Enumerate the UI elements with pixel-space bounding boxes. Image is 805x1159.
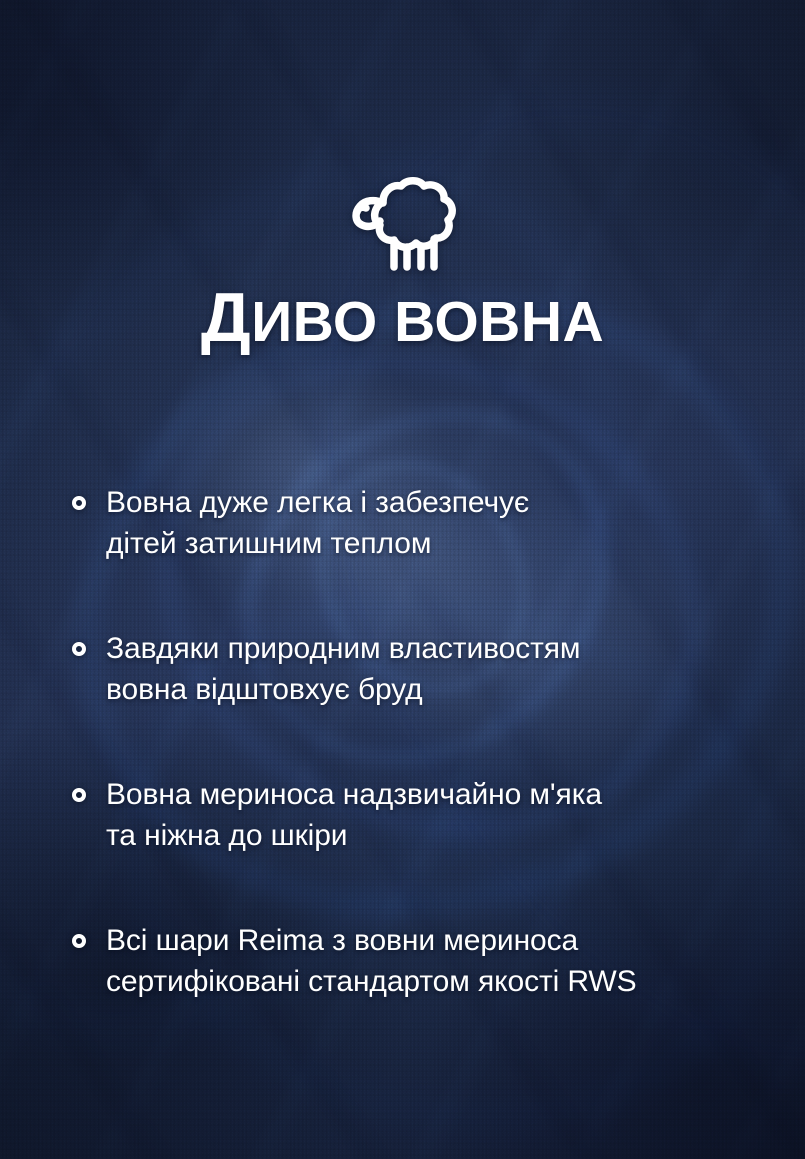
ring-bullet-icon xyxy=(72,496,86,510)
ring-bullet-icon xyxy=(72,642,86,656)
list-item-line: Завдяки природним властивостям xyxy=(106,628,580,669)
ring-bullet-icon xyxy=(72,788,86,802)
list-item-text: Вовна мериноса надзвичайно м'яка та ніжн… xyxy=(106,774,602,856)
sheep-icon xyxy=(0,172,805,276)
list-item-text: Завдяки природним властивостям вовна від… xyxy=(106,628,580,710)
list-item-line: сертифіковані стандартом якості RWS xyxy=(106,961,637,1002)
list-item-text: Всі шари Reima з вовни мериноса сертифік… xyxy=(106,920,637,1002)
wool-info-poster: Диво вовна Вовна дуже легка і забезпечує… xyxy=(0,0,805,1159)
list-item-line: Вовна дуже легка і забезпечує xyxy=(106,482,529,523)
list-item: Вовна мериноса надзвичайно м'яка та ніжн… xyxy=(72,774,772,856)
poster-content: Диво вовна Вовна дуже легка і забезпечує… xyxy=(0,0,805,1159)
list-item: Вовна дуже легка і забезпечує дітей зати… xyxy=(72,482,772,564)
list-item-line: Всі шари Reima з вовни мериноса xyxy=(106,920,637,961)
list-item-line: та ніжна до шкіри xyxy=(106,815,602,856)
list-item: Завдяки природним властивостям вовна від… xyxy=(72,628,772,710)
page-title: Диво вовна xyxy=(0,286,805,353)
list-item-line: Вовна мериноса надзвичайно м'яка xyxy=(106,774,602,815)
list-item-text: Вовна дуже легка і забезпечує дітей зати… xyxy=(106,482,529,564)
list-item: Всі шари Reima з вовни мериноса сертифік… xyxy=(72,920,772,1002)
benefits-list: Вовна дуже легка і забезпечує дітей зати… xyxy=(72,482,772,1002)
ring-bullet-icon xyxy=(72,934,86,948)
list-item-line: вовна відштовхує бруд xyxy=(106,669,580,710)
list-item-line: дітей затишним теплом xyxy=(106,523,529,564)
